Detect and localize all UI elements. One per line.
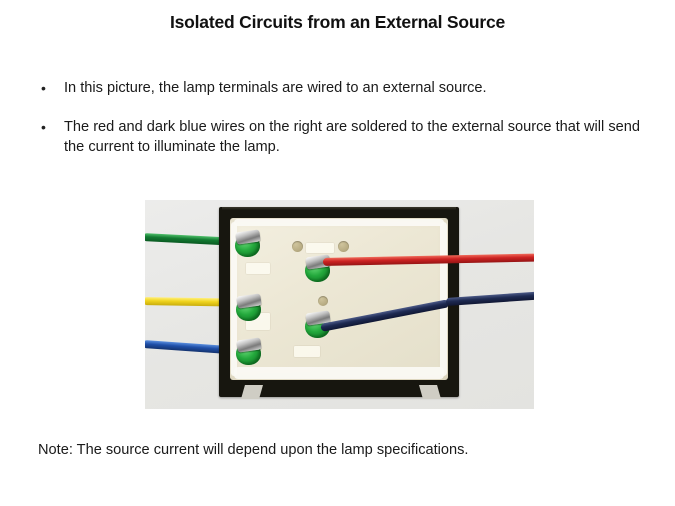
bullet-list: • In this picture, the lamp terminals ar…	[38, 78, 648, 176]
moulded-hole-right	[338, 241, 349, 252]
bullet-marker-icon: •	[38, 78, 64, 98]
note-text: Note: The source current will depend upo…	[38, 440, 648, 460]
moulded-hole-center	[318, 296, 328, 306]
bullet-marker-icon: •	[38, 117, 64, 137]
list-item: • The red and dark blue wires on the rig…	[38, 117, 648, 158]
moulded-label-top	[306, 243, 334, 253]
moulded-label-upper-left	[246, 263, 270, 274]
device-foot-left	[241, 385, 263, 399]
bullet-text: The red and dark blue wires on the right…	[64, 117, 648, 158]
slide: Isolated Circuits from an External Sourc…	[0, 0, 675, 506]
lamp-holder-frame	[219, 207, 459, 397]
potting-edge-top	[234, 219, 444, 226]
terminal-blue-wire	[236, 339, 262, 365]
bullet-text: In this picture, the lamp terminals are …	[64, 78, 648, 99]
moulded-label-bottom	[294, 346, 320, 357]
terminal-green-wire	[235, 231, 261, 257]
device-foot-right	[419, 385, 441, 399]
page-title: Isolated Circuits from an External Sourc…	[0, 12, 675, 33]
moulded-hole-left	[292, 241, 303, 252]
list-item: • In this picture, the lamp terminals ar…	[38, 78, 648, 99]
potting-edge-bottom	[234, 367, 444, 379]
terminal-yellow-wire	[236, 295, 262, 321]
circuit-photo	[145, 200, 534, 409]
lamp-holder-body	[230, 218, 448, 380]
